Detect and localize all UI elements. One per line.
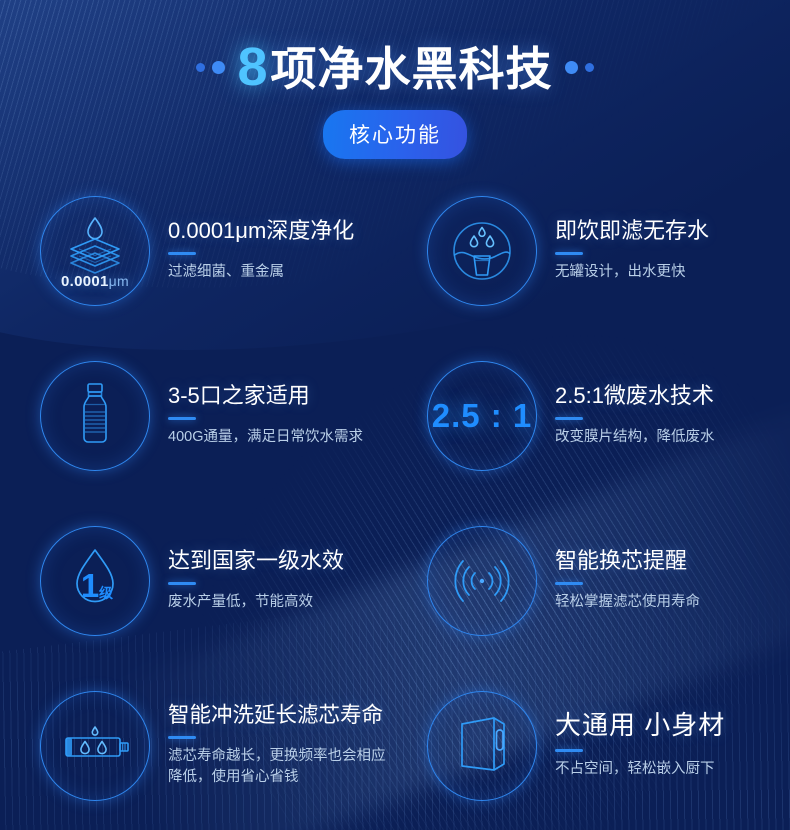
feature-title: 大通用 小身材 bbox=[555, 711, 790, 741]
icon-container bbox=[423, 192, 541, 310]
icon-container bbox=[36, 357, 154, 475]
feature-subtitle: 滤芯寿命越长，更换频率也会相应降低，使用省心省钱 bbox=[168, 746, 395, 788]
feature-row: 智能冲洗延长滤芯寿命 滤芯寿命越长，更换频率也会相应降低，使用省心省钱 bbox=[0, 663, 790, 828]
icon-value-label: 0.0001μm bbox=[36, 273, 154, 290]
feature-title: 智能换芯提醒 bbox=[555, 548, 790, 573]
feature-title: 2.5:1微废水技术 bbox=[555, 383, 790, 408]
accent-underline bbox=[555, 417, 583, 420]
signal-waves-icon bbox=[436, 535, 528, 627]
title-row: 8项净水黑科技 bbox=[0, 36, 790, 98]
core-function-badge[interactable]: 核心功能 bbox=[323, 110, 467, 159]
title-text: 项净水黑科技 bbox=[271, 43, 553, 95]
feature-subtitle: 不占空间，轻松嵌入厨下 bbox=[555, 759, 790, 780]
feature-subtitle: 轻松掌握滤芯使用寿命 bbox=[555, 592, 790, 613]
icon-container: 1 级 bbox=[36, 522, 154, 640]
accent-underline bbox=[168, 582, 196, 585]
water-drop-grade-icon: 1 级 bbox=[49, 535, 141, 627]
feature-title: 0.0001μm深度净化 bbox=[168, 218, 395, 243]
feature-text: 大通用 小身材 不占空间，轻松嵌入厨下 bbox=[541, 711, 790, 781]
filter-cartridge-icon bbox=[49, 700, 141, 792]
icon-container: 2.5 : 1 bbox=[423, 357, 541, 475]
accent-underline bbox=[168, 252, 196, 255]
accent-underline bbox=[555, 252, 583, 255]
dot-large-icon bbox=[212, 61, 225, 74]
feature-subtitle: 废水产量低，节能高效 bbox=[168, 592, 395, 613]
grade-number: 1 bbox=[81, 567, 99, 604]
dot-large-icon bbox=[565, 61, 578, 74]
water-glass-icon bbox=[436, 205, 528, 297]
feature-row: 0.0001μm 0.0001μm深度净化 过滤细菌、重金属 bbox=[0, 168, 790, 333]
feature-text: 0.0001μm深度净化 过滤细菌、重金属 bbox=[154, 218, 395, 283]
accent-underline bbox=[555, 582, 583, 585]
page-title: 8项净水黑科技 bbox=[237, 40, 552, 94]
accent-underline bbox=[555, 749, 583, 752]
feature-title: 达到国家一级水效 bbox=[168, 548, 395, 573]
feature-grid: 0.0001μm 0.0001μm深度净化 过滤细菌、重金属 bbox=[0, 168, 790, 828]
feature-title: 3-5口之家适用 bbox=[168, 383, 395, 408]
icon-container: 0.0001μm bbox=[36, 192, 154, 310]
accent-underline bbox=[168, 417, 196, 420]
header: 8项净水黑科技 核心功能 bbox=[0, 0, 790, 159]
feature-item-waste-ratio[interactable]: 2.5 : 1 2.5:1微废水技术 改变膜片结构，降低废水 bbox=[395, 333, 790, 498]
feature-subtitle: 改变膜片结构，降低废水 bbox=[555, 427, 790, 448]
feature-item-filter-reminder[interactable]: 智能换芯提醒 轻松掌握滤芯使用寿命 bbox=[395, 498, 790, 663]
icon-container bbox=[423, 687, 541, 805]
title-number: 8 bbox=[237, 37, 268, 97]
feature-text: 智能换芯提醒 轻松掌握滤芯使用寿命 bbox=[541, 548, 790, 613]
accent-underline bbox=[168, 736, 196, 739]
dot-small-icon bbox=[585, 63, 594, 72]
feature-text: 2.5:1微废水技术 改变膜片结构，降低废水 bbox=[541, 383, 790, 448]
promo-page: 8项净水黑科技 核心功能 bbox=[0, 0, 790, 830]
feature-subtitle: 无罐设计，出水更快 bbox=[555, 262, 790, 283]
ratio-text-icon: 2.5 : 1 bbox=[432, 397, 533, 435]
feature-item-auto-flush[interactable]: 智能冲洗延长滤芯寿命 滤芯寿命越长，更换频率也会相应降低，使用省心省钱 bbox=[0, 663, 395, 828]
feature-item-membrane[interactable]: 0.0001μm 0.0001μm深度净化 过滤细菌、重金属 bbox=[0, 168, 395, 333]
feature-text: 3-5口之家适用 400G通量，满足日常饮水需求 bbox=[154, 383, 395, 448]
feature-row: 1 级 达到国家一级水效 废水产量低，节能高效 bbox=[0, 498, 790, 663]
feature-text: 达到国家一级水效 废水产量低，节能高效 bbox=[154, 548, 395, 613]
feature-row: 3-5口之家适用 400G通量，满足日常饮水需求 2.5 : 1 2.5:1微废… bbox=[0, 333, 790, 498]
icon-container bbox=[423, 522, 541, 640]
feature-item-instant-filter[interactable]: 即饮即滤无存水 无罐设计，出水更快 bbox=[395, 168, 790, 333]
feature-subtitle: 400G通量，满足日常饮水需求 bbox=[168, 427, 395, 448]
dot-small-icon bbox=[196, 63, 205, 72]
decorative-dots-left bbox=[196, 61, 225, 74]
feature-title: 智能冲洗延长滤芯寿命 bbox=[168, 703, 395, 728]
feature-item-family-size[interactable]: 3-5口之家适用 400G通量，满足日常饮水需求 bbox=[0, 333, 395, 498]
decorative-dots-right bbox=[565, 61, 594, 74]
icon-container bbox=[36, 687, 154, 805]
feature-subtitle: 过滤细菌、重金属 bbox=[168, 262, 395, 283]
grade-unit: 级 bbox=[99, 585, 114, 601]
feature-item-compact-size[interactable]: 大通用 小身材 不占空间，轻松嵌入厨下 bbox=[395, 663, 790, 828]
feature-title: 即饮即滤无存水 bbox=[555, 218, 790, 243]
purifier-box-icon bbox=[436, 700, 528, 792]
feature-item-water-grade[interactable]: 1 级 达到国家一级水效 废水产量低，节能高效 bbox=[0, 498, 395, 663]
feature-text: 即饮即滤无存水 无罐设计，出水更快 bbox=[541, 218, 790, 283]
water-bottle-icon bbox=[49, 370, 141, 462]
feature-text: 智能冲洗延长滤芯寿命 滤芯寿命越长，更换频率也会相应降低，使用省心省钱 bbox=[154, 703, 395, 789]
